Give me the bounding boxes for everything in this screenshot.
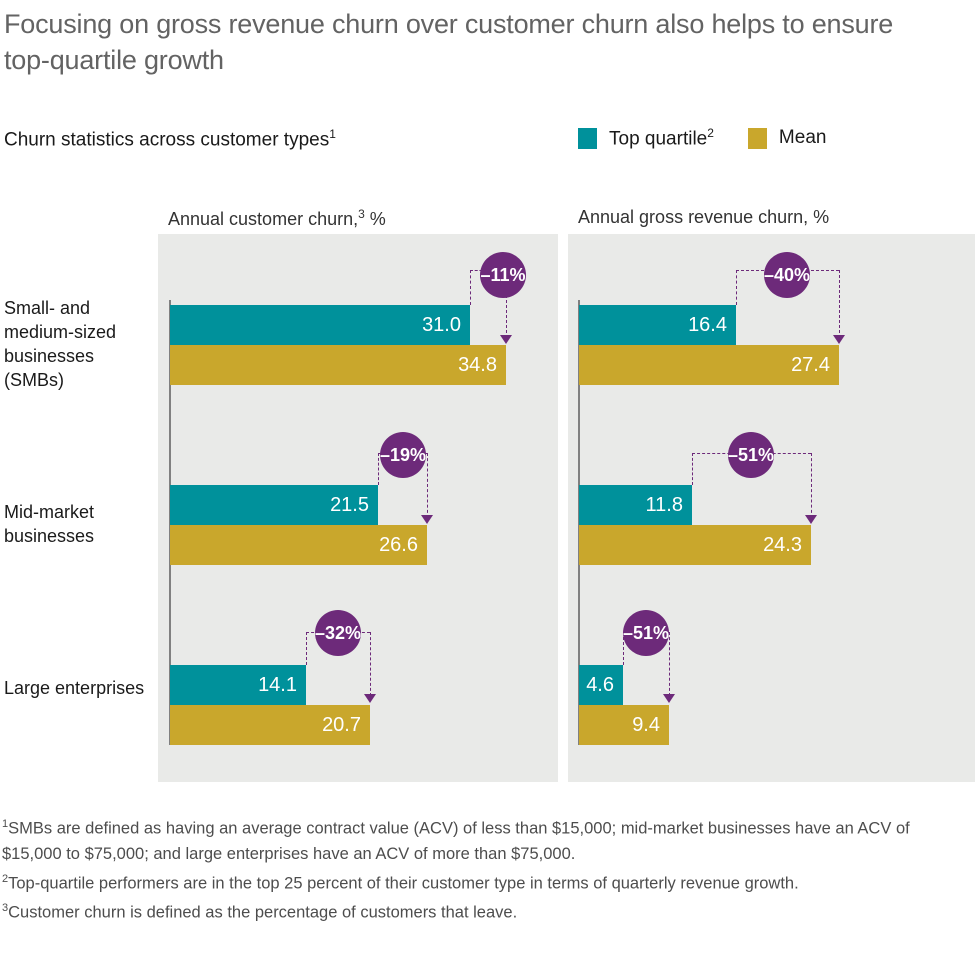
delta-arrowhead (805, 515, 817, 524)
delta-arrowhead (421, 515, 433, 524)
bar-mean: 9.4 (579, 705, 669, 745)
delta-connector-vertical-start (306, 632, 307, 665)
legend-footnote-marker: 2 (707, 126, 714, 140)
bar-value-label: 14.1 (258, 674, 306, 697)
panel-title-text: Annual customer churn, (168, 209, 358, 229)
page-title: Focusing on gross revenue churn over cus… (4, 6, 934, 78)
footnotes: 1SMBs are defined as having an average c… (2, 812, 970, 926)
bar-value-label: 27.4 (791, 354, 839, 377)
bar-value-label: 24.3 (763, 534, 811, 557)
legend-label-mean: Mean (779, 127, 827, 149)
bar-top-quartile: 21.5 (170, 485, 378, 525)
footnote-text: SMBs are defined as having an average co… (2, 820, 910, 863)
legend-item-mean: Mean (748, 127, 827, 149)
bar-value-label: 20.7 (322, 714, 370, 737)
category-label-large-enterprises: Large enterprises (4, 676, 154, 700)
chart-subtitle-text: Churn statistics across customer types (4, 129, 329, 150)
bar-top-quartile: 31.0 (170, 305, 470, 345)
footnote-2: 2Top-quartile performers are in the top … (2, 867, 970, 897)
footnote-1: 1SMBs are defined as having an average c… (2, 812, 970, 867)
bar-value-label: 11.8 (646, 494, 692, 517)
legend-label-text: Top quartile (609, 128, 707, 149)
footnote-text: Top-quartile performers are in the top 2… (8, 874, 799, 892)
chart-legend: Top quartile2 Mean (578, 126, 826, 150)
bar-top-quartile: 16.4 (579, 305, 736, 345)
bar-value-label: 16.4 (688, 314, 736, 337)
bar-top-quartile: 11.8 (579, 485, 692, 525)
bar-mean: 34.8 (170, 345, 506, 385)
bar-mean: 26.6 (170, 525, 427, 565)
bar-top-quartile: 4.6 (579, 665, 623, 705)
delta-arrowhead (663, 694, 675, 703)
legend-label-top-quartile: Top quartile2 (609, 126, 714, 150)
delta-connector-vertical-end (427, 453, 428, 518)
panel-title-footnote-marker: 3 (358, 207, 365, 221)
bar-top-quartile: 14.1 (170, 665, 306, 705)
delta-connector-vertical-end (811, 453, 812, 518)
panel-title-text: Annual gross revenue churn, % (578, 207, 829, 227)
delta-badge: –32% (315, 610, 361, 656)
delta-connector-vertical-start (692, 453, 693, 485)
delta-badge: –40% (764, 252, 810, 298)
category-label-smb: Small- and medium-sized businesses (SMBs… (4, 296, 154, 392)
chart-subtitle-footnote-marker: 1 (329, 127, 336, 141)
bar-value-label: 26.6 (379, 534, 427, 557)
footnote-3: 3Customer churn is defined as the percen… (2, 896, 970, 926)
footnote-text: Customer churn is defined as the percent… (8, 904, 517, 922)
chart-panel-gross-revenue-churn: 16.4 27.4 –40% 11.8 24.3 –51% 4.6 9.4 –5… (568, 234, 975, 782)
panel-title-customer-churn: Annual customer churn,3 % (168, 207, 386, 230)
delta-connector-vertical-start (378, 453, 379, 485)
delta-connector-vertical-start (470, 270, 471, 305)
bar-value-label: 31.0 (422, 314, 470, 337)
delta-connector-vertical-start (736, 270, 737, 305)
delta-badge: –19% (380, 432, 426, 478)
chart-panel-customer-churn: 31.0 34.8 –11% 21.5 26.6 –19% 14.1 20.7 … (158, 234, 558, 782)
bar-value-label: 9.4 (632, 714, 669, 737)
bar-mean: 20.7 (170, 705, 370, 745)
delta-badge: –51% (728, 432, 774, 478)
delta-connector-vertical-end (839, 270, 840, 338)
bar-mean: 27.4 (579, 345, 839, 385)
category-label-mid-market: Mid-market businesses (4, 500, 154, 548)
legend-swatch-top-quartile (578, 128, 597, 149)
panel-title-unit: % (365, 209, 386, 229)
legend-swatch-mean (748, 128, 767, 149)
delta-connector-vertical-end (669, 632, 670, 696)
delta-arrowhead (833, 335, 845, 344)
bar-value-label: 34.8 (458, 354, 506, 377)
delta-arrowhead (500, 335, 512, 344)
panel-title-gross-revenue-churn: Annual gross revenue churn, % (578, 207, 829, 228)
legend-item-top-quartile: Top quartile2 (578, 126, 714, 150)
legend-label-text: Mean (779, 127, 827, 148)
delta-connector-vertical-end (370, 632, 371, 696)
bar-value-label: 21.5 (330, 494, 378, 517)
delta-badge: –11% (480, 252, 526, 298)
bar-mean: 24.3 (579, 525, 811, 565)
delta-badge: –51% (623, 610, 669, 656)
delta-arrowhead (364, 694, 376, 703)
bar-value-label: 4.6 (586, 674, 623, 697)
chart-subtitle: Churn statistics across customer types1 (4, 127, 336, 151)
